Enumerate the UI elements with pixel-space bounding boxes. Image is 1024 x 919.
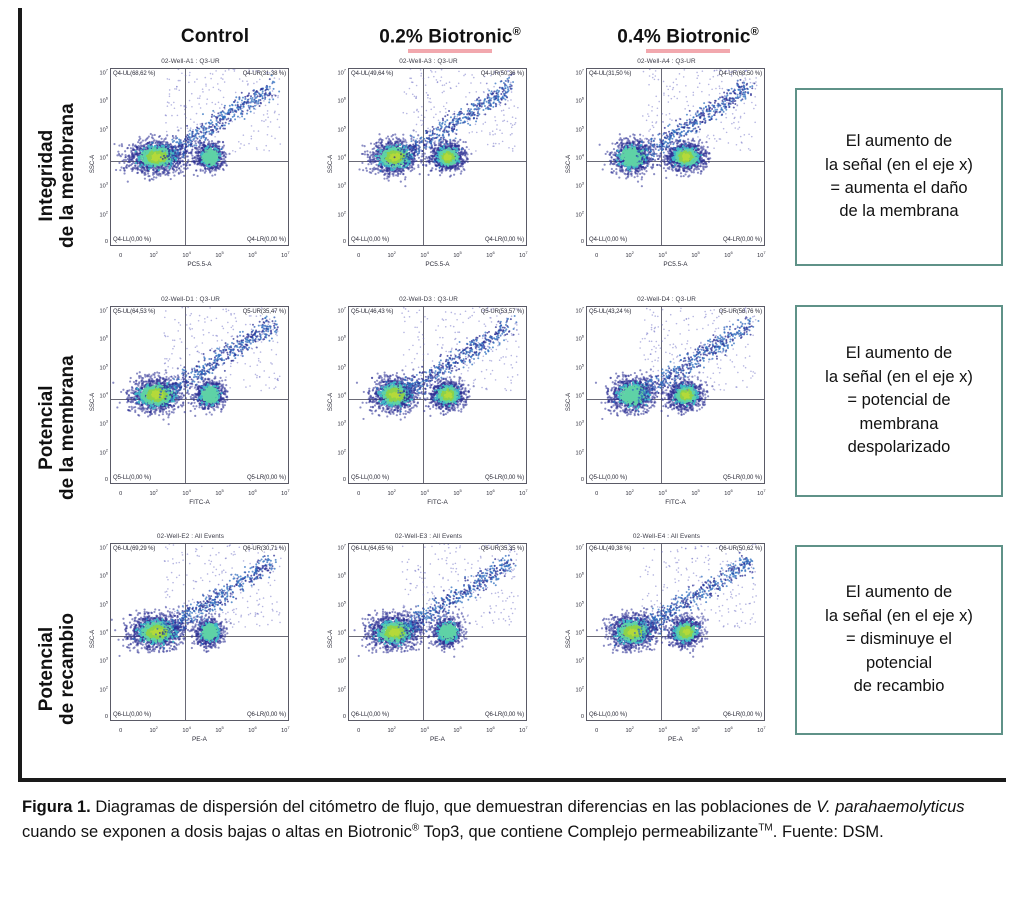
y-tick-label: 0 bbox=[343, 714, 346, 720]
panel-title: 02-Well-E4 : All Events bbox=[564, 533, 769, 540]
y-axis-label: SSC-A bbox=[566, 155, 572, 173]
y-tick-label: 107 bbox=[576, 542, 584, 551]
y-tick-label: 102 bbox=[100, 448, 108, 457]
plot-area: Q4-UL(49,64 %)Q4-UR(50,36 %)Q4-LL(0,00 %… bbox=[348, 68, 527, 246]
x-tick-label: 105 bbox=[215, 725, 223, 734]
quadrant-label-q6-lr: Q6-LR(0,00 %) bbox=[247, 712, 286, 718]
note-box-potencial-recambio: El aumento de la señal (en el eje x) = d… bbox=[795, 545, 1003, 735]
y-tick-label: 105 bbox=[338, 124, 346, 133]
column-header-biotronic-04: 0.4% Biotronic® bbox=[588, 26, 788, 48]
y-tick-label: 102 bbox=[576, 210, 584, 219]
y-tick-label: 107 bbox=[576, 305, 584, 314]
scatter-cloud bbox=[349, 307, 526, 483]
y-tick-label: 107 bbox=[576, 67, 584, 76]
y-tick-label: 104 bbox=[576, 391, 584, 400]
column-headers: Control 0.2% Biotronic® 0.4% Biotronic® bbox=[0, 26, 1024, 54]
quadrant-label-q5-ur: Q5-UR(53,57 %) bbox=[481, 309, 524, 315]
note-text-integridad: El aumento de la señal (en el eje x) = a… bbox=[817, 126, 981, 228]
x-tick-label: 0 bbox=[357, 728, 360, 734]
plot-area: Q5-UL(43,24 %)Q5-UR(56,76 %)Q5-LL(0,00 %… bbox=[586, 306, 765, 484]
y-tick-label: 106 bbox=[100, 334, 108, 343]
y-tick-label: 107 bbox=[338, 542, 346, 551]
x-axis-label: FITC-A bbox=[348, 499, 527, 506]
note-box-integridad: El aumento de la señal (en el eje x) = a… bbox=[795, 88, 1003, 266]
quadrant-label-q5-ur: Q5-UR(56,76 %) bbox=[719, 309, 762, 315]
x-tick-label: 104 bbox=[182, 488, 190, 497]
quadrant-label-q5-ll: Q5-LL(0,00 %) bbox=[113, 475, 151, 481]
caption-part-3: Top3, que contiene Complejo permeabiliza… bbox=[419, 823, 758, 841]
x-tick-label: 105 bbox=[691, 725, 699, 734]
column-header-biotronic-04-label: 0.4% Biotronic bbox=[617, 26, 750, 47]
x-tick-label: 105 bbox=[691, 488, 699, 497]
row-label-line: Integridad bbox=[36, 103, 57, 248]
scatter-cloud bbox=[111, 69, 288, 245]
x-tick-label: 107 bbox=[519, 250, 527, 259]
y-tick-label: 0 bbox=[343, 239, 346, 245]
x-axis-label: PC5.5-A bbox=[110, 261, 289, 268]
y-tick-label: 107 bbox=[100, 305, 108, 314]
x-tick-label: 106 bbox=[724, 250, 732, 259]
x-tick-label: 106 bbox=[486, 725, 494, 734]
y-tick-label: 106 bbox=[576, 96, 584, 105]
x-tick-label: 102 bbox=[625, 725, 633, 734]
column-header-control: Control bbox=[120, 26, 310, 48]
quadrant-label-q6-lr: Q6-LR(0,00 %) bbox=[723, 712, 762, 718]
y-tick-label: 103 bbox=[100, 181, 108, 190]
figure-bottom-rule bbox=[18, 778, 1006, 782]
y-tick-label: 103 bbox=[576, 181, 584, 190]
x-tick-label: 104 bbox=[658, 725, 666, 734]
column-header-control-label: Control bbox=[181, 26, 249, 47]
y-tick-label: 104 bbox=[100, 391, 108, 400]
quadrant-label-q4-lr: Q4-LR(0,00 %) bbox=[723, 237, 762, 243]
row-label-line: Potencial bbox=[36, 613, 57, 725]
column-header-biotronic-02-label: 0.2% Biotronic bbox=[379, 26, 512, 47]
quadrant-label-q6-ul: Q6-UL(69,29 %) bbox=[113, 546, 155, 552]
x-tick-label: 106 bbox=[724, 488, 732, 497]
y-tick-label: 0 bbox=[581, 714, 584, 720]
scatter-panel-r1-c1: 02-Well-D3 : Q3-UR0102103104105106107SSC… bbox=[326, 296, 531, 508]
x-tick-label: 104 bbox=[420, 725, 428, 734]
quadrant-label-q4-lr: Q4-LR(0,00 %) bbox=[485, 237, 524, 243]
plot-area: Q4-UL(31,50 %)Q4-UR(68,50 %)Q4-LL(0,00 %… bbox=[586, 68, 765, 246]
x-axis-ticks: 0102104105106107 bbox=[348, 251, 527, 259]
x-tick-label: 104 bbox=[182, 250, 190, 259]
panel-title: 02-Well-A1 : Q3-UR bbox=[88, 58, 293, 65]
quadrant-label-q4-ur: Q4-UR(68,50 %) bbox=[719, 71, 762, 77]
panel-title: 02-Well-A3 : Q3-UR bbox=[326, 58, 531, 65]
x-axis-label: PE-A bbox=[348, 736, 527, 743]
quadrant-label-q6-ur: Q6-UR(30,71 %) bbox=[243, 546, 286, 552]
scatter-panel-r2-c1: 02-Well-E3 : All Events01021031041051061… bbox=[326, 533, 531, 745]
y-tick-label: 106 bbox=[576, 571, 584, 580]
x-tick-label: 0 bbox=[357, 253, 360, 259]
x-tick-label: 102 bbox=[625, 488, 633, 497]
quadrant-label-q5-ll: Q5-LL(0,00 %) bbox=[351, 475, 389, 481]
x-tick-label: 104 bbox=[182, 725, 190, 734]
y-axis-label: SSC-A bbox=[90, 630, 96, 648]
x-tick-label: 102 bbox=[387, 488, 395, 497]
x-tick-label: 107 bbox=[519, 488, 527, 497]
panel-title: 02-Well-A4 : Q3-UR bbox=[564, 58, 769, 65]
scatter-panel-r0-c0: 02-Well-A1 : Q3-UR0102103104105106107SSC… bbox=[88, 58, 293, 270]
caption-part-1: Diagramas de dispersión del citómetro de… bbox=[91, 798, 817, 816]
y-tick-label: 106 bbox=[100, 96, 108, 105]
x-tick-label: 107 bbox=[757, 725, 765, 734]
y-tick-label: 104 bbox=[576, 628, 584, 637]
x-tick-label: 0 bbox=[357, 491, 360, 497]
x-tick-label: 106 bbox=[486, 488, 494, 497]
figure-left-rule bbox=[18, 8, 22, 780]
quadrant-label-q4-ul: Q4-UL(49,64 %) bbox=[351, 71, 393, 77]
scatter-cloud bbox=[587, 544, 764, 720]
x-tick-label: 0 bbox=[119, 728, 122, 734]
plot-area: Q6-UL(69,29 %)Q6-UR(30,71 %)Q6-LL(0,00 %… bbox=[110, 543, 289, 721]
y-axis-label: SSC-A bbox=[90, 155, 96, 173]
x-tick-label: 0 bbox=[595, 491, 598, 497]
y-tick-label: 106 bbox=[338, 571, 346, 580]
x-tick-label: 105 bbox=[453, 725, 461, 734]
plot-area: Q5-UL(46,43 %)Q5-UR(53,57 %)Q5-LL(0,00 %… bbox=[348, 306, 527, 484]
y-tick-label: 105 bbox=[100, 362, 108, 371]
caption-part-2: cuando se exponen a dosis bajas o altas … bbox=[22, 823, 412, 841]
y-tick-label: 0 bbox=[581, 239, 584, 245]
quadrant-label-q4-ul: Q4-UL(68,62 %) bbox=[113, 71, 155, 77]
x-axis-label: FITC-A bbox=[110, 499, 289, 506]
y-tick-label: 107 bbox=[338, 67, 346, 76]
x-tick-label: 105 bbox=[453, 250, 461, 259]
x-tick-label: 106 bbox=[248, 488, 256, 497]
x-tick-label: 106 bbox=[486, 250, 494, 259]
y-tick-label: 0 bbox=[105, 714, 108, 720]
x-tick-label: 0 bbox=[119, 491, 122, 497]
y-tick-label: 105 bbox=[576, 362, 584, 371]
quadrant-label-q6-ll: Q6-LL(0,00 %) bbox=[351, 712, 389, 718]
quadrant-label-q5-lr: Q5-LR(0,00 %) bbox=[247, 475, 286, 481]
y-axis-label: SSC-A bbox=[328, 155, 334, 173]
caption-trademark-mark: TM bbox=[758, 823, 772, 834]
quadrant-label-q6-ll: Q6-LL(0,00 %) bbox=[589, 712, 627, 718]
y-tick-label: 0 bbox=[105, 239, 108, 245]
y-tick-label: 106 bbox=[576, 334, 584, 343]
caption-figure-number: Figura 1. bbox=[22, 798, 91, 816]
y-tick-label: 102 bbox=[338, 210, 346, 219]
scatter-panel-r2-c0: 02-Well-E2 : All Events01021031041051061… bbox=[88, 533, 293, 745]
scatter-panel-r0-c1: 02-Well-A3 : Q3-UR0102103104105106107SSC… bbox=[326, 58, 531, 270]
panel-title: 02-Well-E3 : All Events bbox=[326, 533, 531, 540]
y-tick-label: 106 bbox=[338, 96, 346, 105]
quadrant-label-q6-ll: Q6-LL(0,00 %) bbox=[113, 712, 151, 718]
y-tick-label: 102 bbox=[576, 685, 584, 694]
y-tick-label: 103 bbox=[576, 419, 584, 428]
x-axis-label: PE-A bbox=[586, 736, 765, 743]
quadrant-label-q6-ul: Q6-UL(49,38 %) bbox=[589, 546, 631, 552]
quadrant-label-q4-ll: Q4-LL(0,00 %) bbox=[113, 237, 151, 243]
x-tick-label: 105 bbox=[453, 488, 461, 497]
note-box-potencial-membrana: El aumento de la señal (en el eje x) = p… bbox=[795, 305, 1003, 497]
row-label-line: de la membrana bbox=[57, 355, 78, 500]
x-tick-label: 106 bbox=[724, 725, 732, 734]
panel-title: 02-Well-D1 : Q3-UR bbox=[88, 296, 293, 303]
x-tick-label: 0 bbox=[119, 253, 122, 259]
caption-part-4: . Fuente: DSM. bbox=[773, 823, 884, 841]
row-label-line: de recambio bbox=[57, 613, 78, 725]
x-axis-ticks: 0102104105106107 bbox=[348, 726, 527, 734]
x-tick-label: 107 bbox=[281, 725, 289, 734]
scatter-cloud bbox=[349, 544, 526, 720]
y-tick-label: 107 bbox=[100, 542, 108, 551]
x-tick-label: 102 bbox=[149, 250, 157, 259]
x-axis-ticks: 0102104105106107 bbox=[110, 251, 289, 259]
row-label-potencial-recambio: Potencial de recambio bbox=[36, 613, 79, 725]
x-axis-ticks: 0102104105106107 bbox=[110, 489, 289, 497]
x-tick-label: 104 bbox=[420, 250, 428, 259]
x-tick-label: 105 bbox=[215, 250, 223, 259]
x-tick-label: 105 bbox=[691, 250, 699, 259]
scatter-panel-r1-c0: 02-Well-D1 : Q3-UR0102103104105106107SSC… bbox=[88, 296, 293, 508]
y-axis-label: SSC-A bbox=[566, 393, 572, 411]
y-tick-label: 102 bbox=[338, 685, 346, 694]
x-axis-label: PC5.5-A bbox=[586, 261, 765, 268]
y-tick-label: 104 bbox=[100, 628, 108, 637]
y-tick-label: 106 bbox=[100, 571, 108, 580]
quadrant-label-q5-ul: Q5-UL(46,43 %) bbox=[351, 309, 393, 315]
quadrant-label-q5-ul: Q5-UL(64,53 %) bbox=[113, 309, 155, 315]
scatter-panel-r1-c2: 02-Well-D4 : Q3-UR0102103104105106107SSC… bbox=[564, 296, 769, 508]
row-label-line: Potencial bbox=[36, 355, 57, 500]
x-tick-label: 107 bbox=[757, 250, 765, 259]
scatter-cloud bbox=[111, 307, 288, 483]
y-tick-label: 103 bbox=[100, 656, 108, 665]
quadrant-label-q6-ur: Q6-UR(50,62 %) bbox=[719, 546, 762, 552]
header-underline-02 bbox=[408, 49, 492, 53]
registered-mark-icon: ® bbox=[751, 26, 759, 38]
y-tick-label: 105 bbox=[338, 599, 346, 608]
panel-title: 02-Well-D4 : Q3-UR bbox=[564, 296, 769, 303]
y-tick-label: 104 bbox=[338, 628, 346, 637]
y-tick-label: 104 bbox=[100, 153, 108, 162]
scatter-cloud bbox=[111, 544, 288, 720]
y-tick-label: 102 bbox=[100, 210, 108, 219]
quadrant-label-q4-ul: Q4-UL(31,50 %) bbox=[589, 71, 631, 77]
figure-root: Control 0.2% Biotronic® 0.4% Biotronic® … bbox=[0, 0, 1024, 919]
y-tick-label: 105 bbox=[100, 124, 108, 133]
y-tick-label: 102 bbox=[100, 685, 108, 694]
x-tick-label: 106 bbox=[248, 725, 256, 734]
y-tick-label: 104 bbox=[576, 153, 584, 162]
x-axis-label: PE-A bbox=[110, 736, 289, 743]
figure-caption: Figura 1. Diagramas de dispersión del ci… bbox=[22, 795, 994, 845]
quadrant-label-q6-lr: Q6-LR(0,00 %) bbox=[485, 712, 524, 718]
x-tick-label: 107 bbox=[281, 250, 289, 259]
quadrant-label-q4-lr: Q4-LR(0,00 %) bbox=[247, 237, 286, 243]
x-tick-label: 104 bbox=[658, 488, 666, 497]
header-underline-04 bbox=[646, 49, 730, 53]
y-tick-label: 105 bbox=[100, 599, 108, 608]
quadrant-label-q5-ur: Q5-UR(35,47 %) bbox=[243, 309, 286, 315]
x-axis-ticks: 0102104105106107 bbox=[586, 489, 765, 497]
row-label-line: de la membrana bbox=[57, 103, 78, 248]
note-text-potencial-recambio: El aumento de la señal (en el eje x) = d… bbox=[817, 577, 981, 702]
x-axis-label: PC5.5-A bbox=[348, 261, 527, 268]
scatter-panel-r0-c2: 02-Well-A4 : Q3-UR0102103104105106107SSC… bbox=[564, 58, 769, 270]
x-axis-label: FITC-A bbox=[586, 499, 765, 506]
y-tick-label: 105 bbox=[576, 599, 584, 608]
caption-species-name: V. parahaemolyticus bbox=[816, 798, 964, 816]
quadrant-label-q4-ur: Q4-UR(50,36 %) bbox=[481, 71, 524, 77]
y-tick-label: 0 bbox=[581, 477, 584, 483]
x-tick-label: 102 bbox=[149, 488, 157, 497]
y-axis-label: SSC-A bbox=[328, 630, 334, 648]
x-axis-ticks: 0102104105106107 bbox=[586, 251, 765, 259]
x-tick-label: 102 bbox=[387, 250, 395, 259]
y-tick-label: 104 bbox=[338, 391, 346, 400]
registered-mark-icon: ® bbox=[513, 26, 521, 38]
x-axis-ticks: 0102104105106107 bbox=[348, 489, 527, 497]
x-tick-label: 102 bbox=[387, 725, 395, 734]
x-axis-ticks: 0102104105106107 bbox=[586, 726, 765, 734]
quadrant-label-q5-lr: Q5-LR(0,00 %) bbox=[723, 475, 762, 481]
y-tick-label: 107 bbox=[338, 305, 346, 314]
y-tick-label: 103 bbox=[338, 656, 346, 665]
y-tick-label: 105 bbox=[338, 362, 346, 371]
quadrant-label-q5-ll: Q5-LL(0,00 %) bbox=[589, 475, 627, 481]
y-tick-label: 106 bbox=[338, 334, 346, 343]
plot-area: Q4-UL(68,62 %)Q4-UR(31,38 %)Q4-LL(0,00 %… bbox=[110, 68, 289, 246]
x-tick-label: 107 bbox=[519, 725, 527, 734]
quadrant-label-q4-ll: Q4-LL(0,00 %) bbox=[351, 237, 389, 243]
x-tick-label: 105 bbox=[215, 488, 223, 497]
column-header-biotronic-02: 0.2% Biotronic® bbox=[350, 26, 550, 48]
y-tick-label: 104 bbox=[338, 153, 346, 162]
x-tick-label: 104 bbox=[420, 488, 428, 497]
quadrant-label-q4-ll: Q4-LL(0,00 %) bbox=[589, 237, 627, 243]
y-tick-label: 103 bbox=[100, 419, 108, 428]
x-axis-ticks: 0102104105106107 bbox=[110, 726, 289, 734]
y-tick-label: 103 bbox=[576, 656, 584, 665]
scatter-cloud bbox=[587, 307, 764, 483]
y-axis-label: SSC-A bbox=[566, 630, 572, 648]
quadrant-label-q5-lr: Q5-LR(0,00 %) bbox=[485, 475, 524, 481]
y-tick-label: 107 bbox=[100, 67, 108, 76]
scatter-cloud bbox=[587, 69, 764, 245]
y-tick-label: 102 bbox=[338, 448, 346, 457]
y-tick-label: 0 bbox=[105, 477, 108, 483]
panel-title: 02-Well-D3 : Q3-UR bbox=[326, 296, 531, 303]
x-tick-label: 104 bbox=[658, 250, 666, 259]
quadrant-label-q6-ul: Q6-UL(64,65 %) bbox=[351, 546, 393, 552]
row-label-integridad: Integridad de la membrana bbox=[36, 103, 79, 248]
quadrant-label-q6-ur: Q6-UR(35,35 %) bbox=[481, 546, 524, 552]
panel-title: 02-Well-E2 : All Events bbox=[88, 533, 293, 540]
quadrant-label-q4-ur: Q4-UR(31,38 %) bbox=[243, 71, 286, 77]
x-tick-label: 106 bbox=[248, 250, 256, 259]
scatter-cloud bbox=[349, 69, 526, 245]
scatter-panel-r2-c2: 02-Well-E4 : All Events01021031041051061… bbox=[564, 533, 769, 745]
y-axis-label: SSC-A bbox=[328, 393, 334, 411]
x-tick-label: 0 bbox=[595, 728, 598, 734]
x-tick-label: 107 bbox=[757, 488, 765, 497]
plot-area: Q6-UL(49,38 %)Q6-UR(50,62 %)Q6-LL(0,00 %… bbox=[586, 543, 765, 721]
plot-area: Q5-UL(64,53 %)Q5-UR(35,47 %)Q5-LL(0,00 %… bbox=[110, 306, 289, 484]
x-tick-label: 102 bbox=[149, 725, 157, 734]
y-tick-label: 0 bbox=[343, 477, 346, 483]
row-label-potencial-membrana: Potencial de la membrana bbox=[36, 355, 79, 500]
x-tick-label: 107 bbox=[281, 488, 289, 497]
y-tick-label: 103 bbox=[338, 419, 346, 428]
x-tick-label: 102 bbox=[625, 250, 633, 259]
y-tick-label: 103 bbox=[338, 181, 346, 190]
quadrant-label-q5-ul: Q5-UL(43,24 %) bbox=[589, 309, 631, 315]
y-tick-label: 105 bbox=[576, 124, 584, 133]
y-tick-label: 102 bbox=[576, 448, 584, 457]
note-text-potencial-membrana: El aumento de la señal (en el eje x) = p… bbox=[817, 338, 981, 463]
plot-area: Q6-UL(64,65 %)Q6-UR(35,35 %)Q6-LL(0,00 %… bbox=[348, 543, 527, 721]
x-tick-label: 0 bbox=[595, 253, 598, 259]
y-axis-label: SSC-A bbox=[90, 393, 96, 411]
